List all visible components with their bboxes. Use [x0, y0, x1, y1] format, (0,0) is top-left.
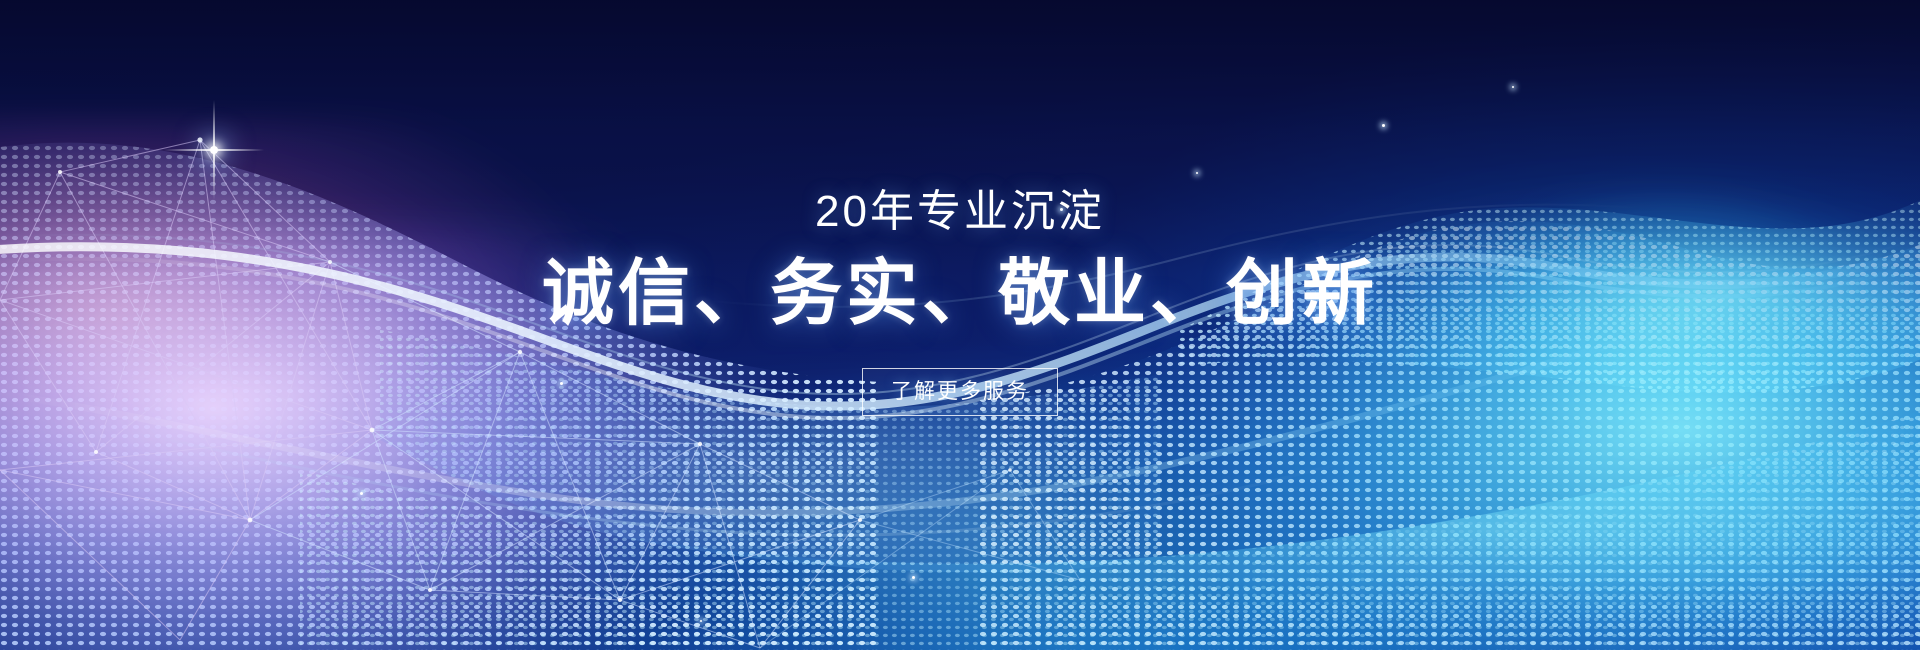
banner-headline: 诚信、务实、敬业、创新	[542, 253, 1378, 336]
banner-content: 20年专业沉淀 诚信、务实、敬业、创新 了解更多服务	[0, 0, 1920, 650]
learn-more-button[interactable]: 了解更多服务	[862, 368, 1058, 416]
banner-subheadline: 20年专业沉淀	[815, 186, 1105, 239]
cta-container: 了解更多服务	[862, 368, 1058, 416]
hero-banner: 20年专业沉淀 诚信、务实、敬业、创新 了解更多服务	[0, 0, 1920, 650]
